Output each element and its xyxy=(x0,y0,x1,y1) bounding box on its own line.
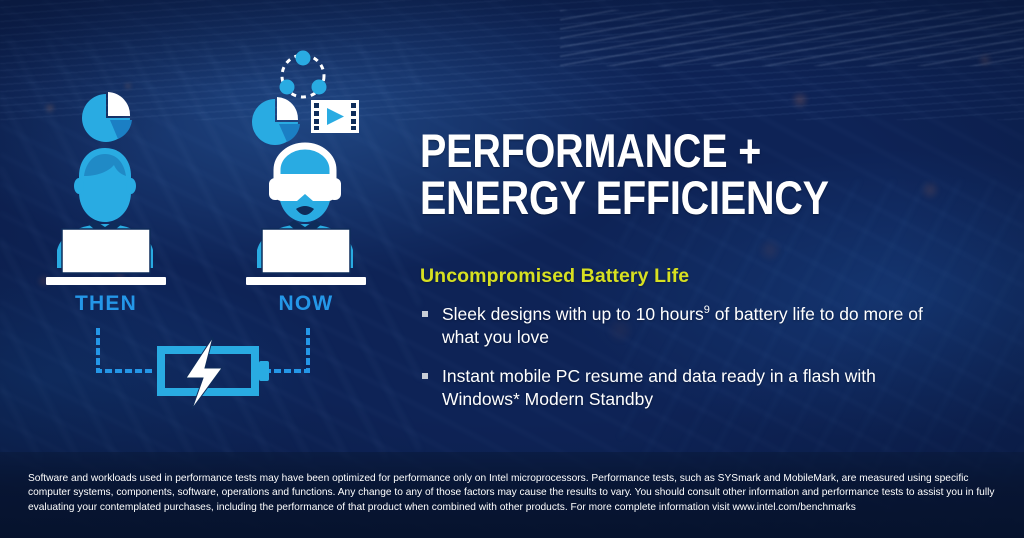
pie-chart-icon xyxy=(82,92,132,142)
dotted-connector-left xyxy=(98,330,150,371)
bullet-text-main: Sleek designs with up to 10 hours xyxy=(442,304,704,324)
pie-chart-icon xyxy=(252,97,300,145)
person-vr-headset-icon xyxy=(269,146,341,222)
now-label: NOW xyxy=(236,292,376,316)
legal-disclaimer: Software and workloads used in performan… xyxy=(28,472,1003,515)
battery-charging-icon xyxy=(161,337,269,409)
bullet-marker-icon xyxy=(422,311,428,317)
list-item: Sleek designs with up to 10 hours9 of ba… xyxy=(420,303,940,349)
then-label: THEN xyxy=(36,292,176,316)
video-film-icon xyxy=(311,100,359,133)
bullet-list: Sleek designs with up to 10 hours9 of ba… xyxy=(420,303,940,427)
now-figure-group xyxy=(246,51,366,286)
bullet-text-main: Instant mobile PC resume and data ready … xyxy=(442,366,876,409)
illustration-then-now: THEN NOW xyxy=(0,0,400,470)
slide-root: THEN NOW PERFORMANCE + ENERGY EFFICIENCY… xyxy=(0,0,1024,538)
illustration-svg xyxy=(0,0,400,470)
list-item: Instant mobile PC resume and data ready … xyxy=(420,365,940,411)
share-network-icon xyxy=(280,51,327,98)
person-head-icon xyxy=(74,148,136,222)
section-subtitle: Uncompromised Battery Life xyxy=(420,265,689,288)
laptop-icon xyxy=(46,229,166,285)
bullet-marker-icon xyxy=(422,373,428,379)
laptop-icon xyxy=(246,229,366,285)
page-title: PERFORMANCE + ENERGY EFFICIENCY xyxy=(420,127,829,221)
then-figure-group xyxy=(46,92,166,285)
